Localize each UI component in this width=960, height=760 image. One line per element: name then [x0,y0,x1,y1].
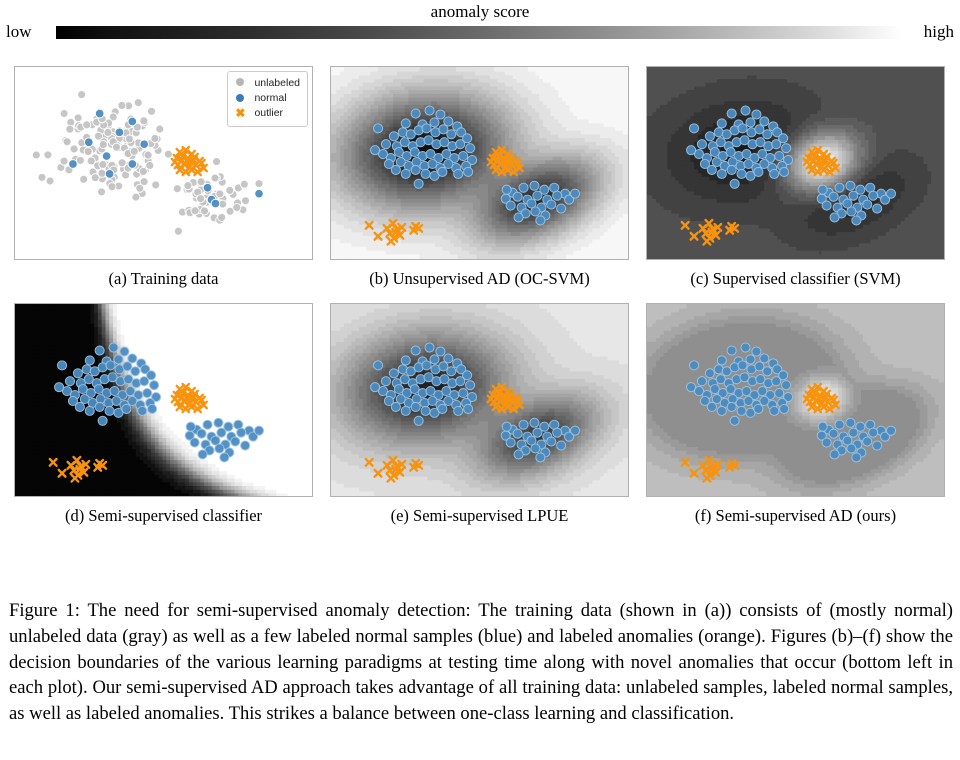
colorbar-high-label: high [924,22,954,42]
anomaly-score-colorbar: anomaly score low high [0,0,960,50]
figure-panel-grid: unlabeled normal ✖ outlier (a) Training … [14,66,946,530]
panel-c: (c) Supervised classifier (SVM) [646,66,945,289]
outlier-x-icon: ✖ [233,108,247,120]
panel-d-caption: (d) Semi-supervised classifier [14,497,313,526]
colorbar-low-label: low [6,22,32,42]
panel-f-caption: (f) Semi-supervised AD (ours) [646,497,945,526]
panel-b: (b) Unsupervised AD (OC-SVM) [330,66,629,289]
scatter-legend: unlabeled normal ✖ outlier [227,71,308,127]
panel-c-plot[interactable] [646,66,945,260]
normal-dot-icon [233,94,247,105]
panel-e: (e) Semi-supervised LPUE [330,303,629,526]
legend-label-unlabeled: unlabeled [254,76,300,91]
panel-a-caption: (a) Training data [14,260,313,289]
colorbar-gradient-bar [56,26,902,39]
panel-f-plot[interactable] [646,303,945,497]
legend-item-unlabeled: unlabeled [233,76,300,91]
unlabeled-dot-icon [233,78,247,89]
colorbar-title: anomaly score [0,2,960,22]
legend-item-normal: normal [233,91,300,106]
panel-f: (f) Semi-supervised AD (ours) [646,303,945,526]
panel-e-plot[interactable] [330,303,629,497]
panel-row-top: unlabeled normal ✖ outlier (a) Training … [14,66,946,289]
legend-label-outlier: outlier [254,106,283,121]
panel-d: (d) Semi-supervised classifier [14,303,313,526]
panel-a-plot[interactable]: unlabeled normal ✖ outlier [14,66,313,260]
panel-a: unlabeled normal ✖ outlier (a) Training … [14,66,313,289]
panel-c-caption: (c) Supervised classifier (SVM) [646,260,945,289]
panel-d-plot[interactable] [14,303,313,497]
panel-b-plot[interactable] [330,66,629,260]
figure-caption: Figure 1: The need for semi-supervised a… [9,598,953,727]
panel-e-caption: (e) Semi-supervised LPUE [330,497,629,526]
legend-label-normal: normal [254,91,286,106]
legend-item-outlier: ✖ outlier [233,106,300,121]
panel-b-caption: (b) Unsupervised AD (OC-SVM) [330,260,629,289]
panel-row-bottom: (d) Semi-supervised classifier (e) Semi-… [14,303,946,526]
